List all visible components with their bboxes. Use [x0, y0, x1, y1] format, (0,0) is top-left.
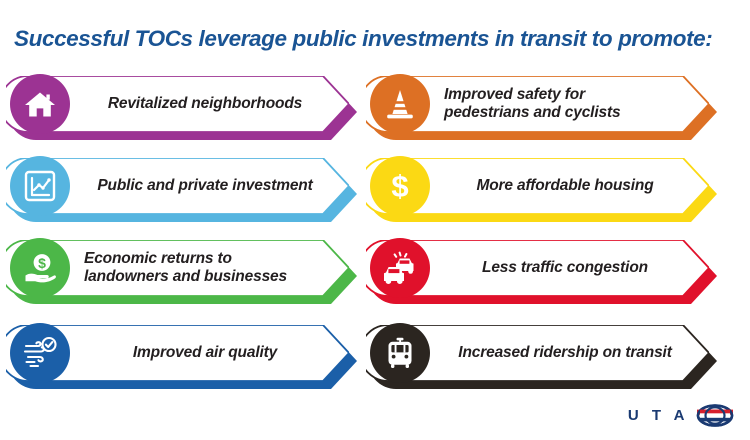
uta-wordmark: U T A	[628, 408, 689, 423]
page-title: Successful TOCs leverage public investme…	[14, 26, 712, 52]
house-icon	[22, 86, 58, 122]
air-quality-icon	[22, 335, 58, 371]
benefits-grid: Revitalized neighborhoodsImproved safety…	[0, 76, 750, 396]
traffic-cars-icon	[382, 250, 418, 286]
banner-label: Public and private investment	[80, 158, 330, 214]
benefit-banner[interactable]: Public and private investment	[6, 158, 349, 214]
dollar-coin-icon	[382, 168, 418, 204]
banner-label: More affordable housing	[440, 158, 690, 214]
line-chart-icon-badge	[10, 156, 70, 216]
uta-emblem-icon	[696, 404, 734, 427]
hand-money-icon-badge	[10, 238, 70, 298]
benefit-banner[interactable]: Increased ridership on transit	[366, 325, 709, 381]
bus-icon-badge	[370, 323, 430, 383]
dollar-coin-icon-badge	[370, 156, 430, 216]
benefit-banner[interactable]: Improved air quality	[6, 325, 349, 381]
traffic-cars-icon-badge	[370, 238, 430, 298]
banner-label: Economic returns to landowners and busin…	[84, 240, 334, 296]
house-icon-badge	[10, 74, 70, 134]
benefit-banner[interactable]: Less traffic congestion	[366, 240, 709, 296]
banner-label: Improved safety for pedestrians and cycl…	[444, 76, 694, 132]
benefit-banner[interactable]: Economic returns to landowners and busin…	[6, 240, 349, 296]
banner-label: Less traffic congestion	[440, 240, 690, 296]
benefit-banner[interactable]: More affordable housing	[366, 158, 709, 214]
traffic-cone-icon	[382, 86, 418, 122]
banner-label: Revitalized neighborhoods	[80, 76, 330, 132]
benefit-banner[interactable]: Revitalized neighborhoods	[6, 76, 349, 132]
bus-icon	[382, 335, 418, 371]
banner-label: Increased ridership on transit	[440, 325, 690, 381]
air-quality-icon-badge	[10, 323, 70, 383]
hand-money-icon	[22, 250, 58, 286]
line-chart-icon	[22, 168, 58, 204]
uta-logo: U T A	[628, 402, 734, 428]
banner-label: Improved air quality	[80, 325, 330, 381]
benefit-banner[interactable]: Improved safety for pedestrians and cycl…	[366, 76, 709, 132]
traffic-cone-icon-badge	[370, 74, 430, 134]
